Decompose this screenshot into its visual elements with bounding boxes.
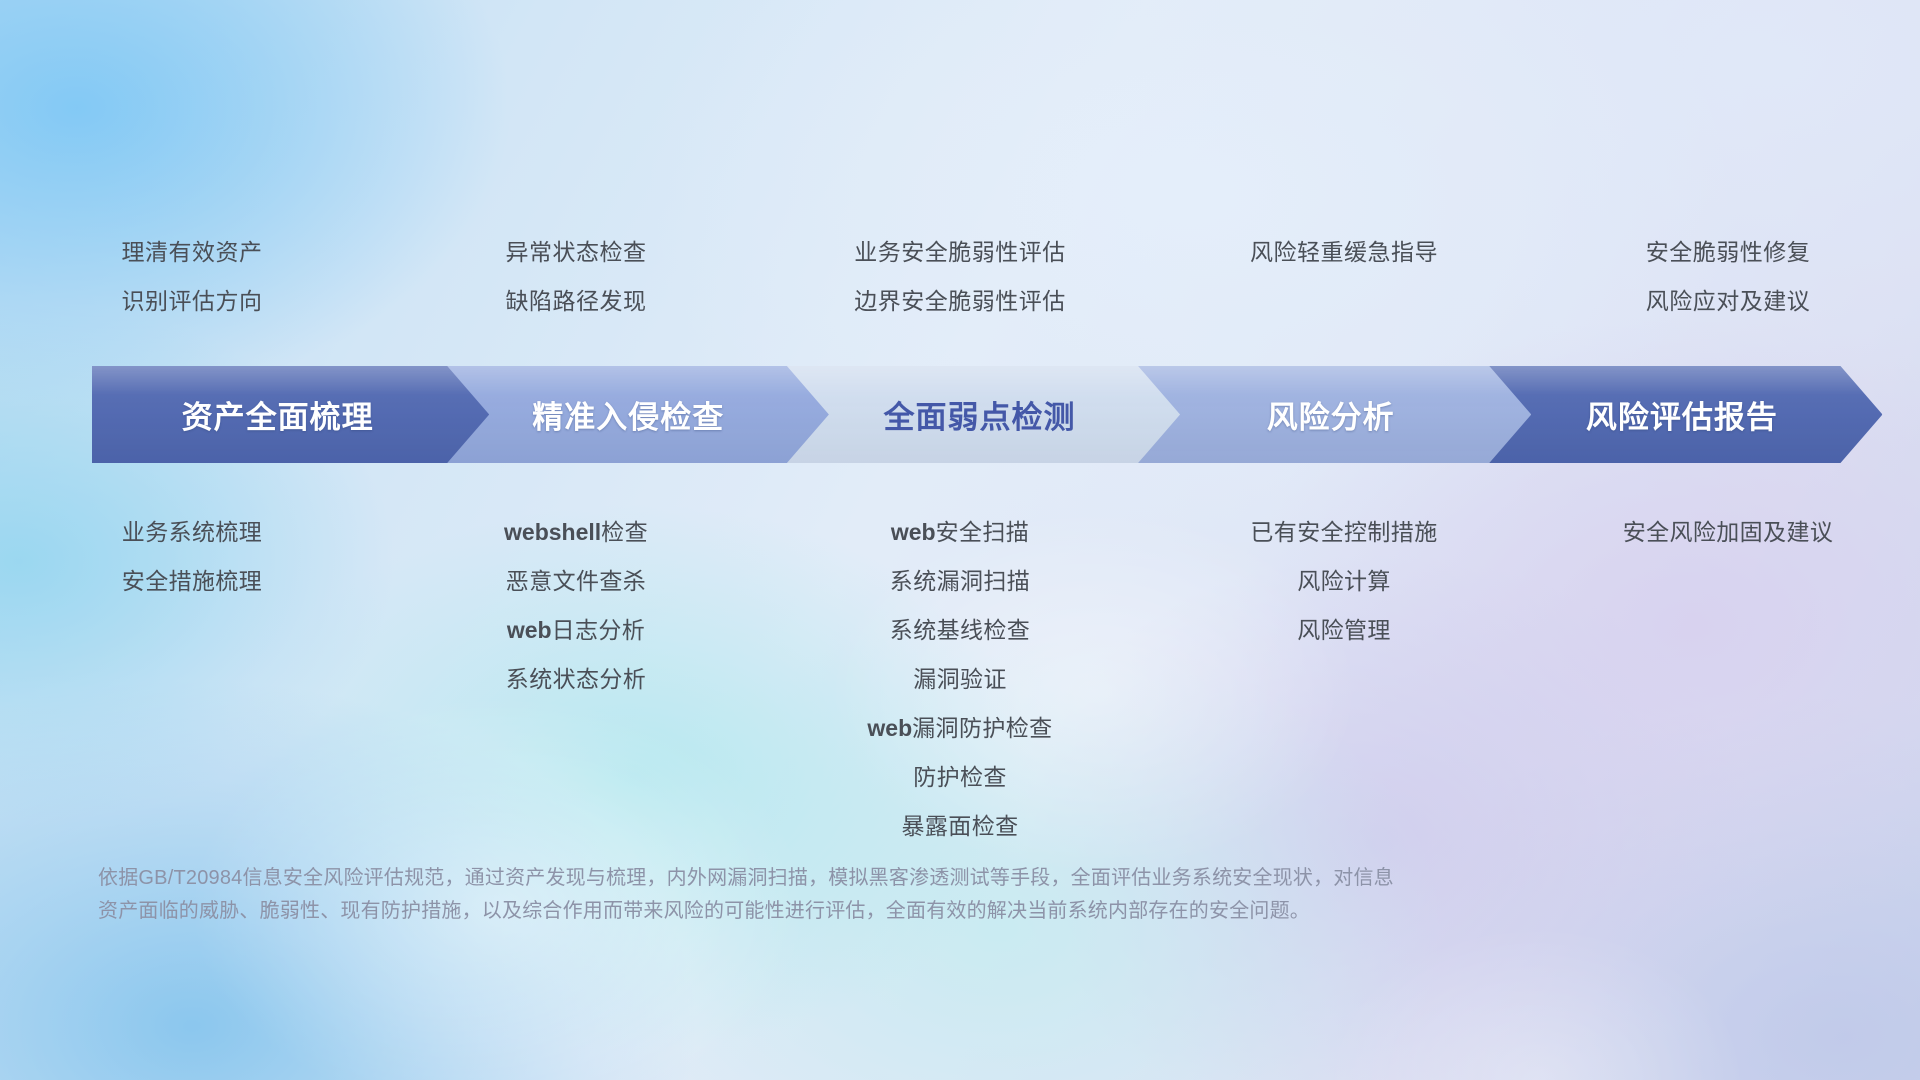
bottom-caption-item: 风险管理 bbox=[1297, 606, 1391, 655]
stage-arrow-label: 风险评估报告 bbox=[1485, 392, 1882, 437]
footer-line-1: 依据GB/T20984信息安全风险评估规范，通过资产发现与梳理，内外网漏洞扫描，… bbox=[98, 862, 1648, 895]
top-caption-item: 识别评估方向 bbox=[122, 277, 263, 326]
stage-arrow-intrusion-check[interactable]: 精准入侵检查 bbox=[432, 366, 829, 463]
bottom-caption-item: 漏洞验证 bbox=[913, 655, 1007, 704]
top-caption-col-weakness-detection: 业务安全脆弱性评估边界安全脆弱性评估 bbox=[768, 228, 1152, 326]
stage-arrow-asset-inventory[interactable]: 资产全面梳理 bbox=[92, 366, 489, 463]
bottom-caption-item: 暴露面检查 bbox=[902, 802, 1019, 851]
stage-arrow-label: 资产全面梳理 bbox=[92, 392, 489, 437]
bottom-caption-col-assessment-report: 安全风险加固及建议 bbox=[1536, 508, 1920, 557]
bottom-caption-item: 防护检查 bbox=[913, 753, 1007, 802]
bottom-caption-item: 风险计算 bbox=[1297, 557, 1391, 606]
bottom-caption-item: 恶意文件查杀 bbox=[506, 557, 646, 606]
bottom-caption-item: 业务系统梳理 bbox=[122, 508, 262, 557]
stage-arrow-risk-analysis[interactable]: 风险分析 bbox=[1134, 366, 1531, 463]
bottom-caption-item: web安全扫描 bbox=[891, 508, 1029, 557]
bottom-caption-item: web日志分析 bbox=[507, 606, 645, 655]
bottom-caption-text: 安全扫描 bbox=[936, 519, 1030, 545]
top-caption-item: 理清有效资产 bbox=[122, 228, 263, 277]
bottom-caption-item: 系统状态分析 bbox=[506, 655, 646, 704]
top-captions-row: 理清有效资产识别评估方向异常状态检查缺陷路径发现业务安全脆弱性评估边界安全脆弱性… bbox=[0, 228, 1920, 326]
bottom-caption-prefix: webshell bbox=[504, 519, 601, 545]
stage-arrow-weakness-detection[interactable]: 全面弱点检测 bbox=[783, 366, 1180, 463]
top-caption-item: 业务安全脆弱性评估 bbox=[854, 228, 1066, 277]
bottom-caption-col-risk-analysis: 已有安全控制措施风险计算风险管理 bbox=[1152, 508, 1536, 655]
top-caption-item: 安全脆弱性修复 bbox=[1646, 228, 1811, 277]
top-caption-item: 风险应对及建议 bbox=[1646, 277, 1811, 326]
top-caption-item: 缺陷路径发现 bbox=[506, 277, 647, 326]
bottom-caption-item: web漏洞防护检查 bbox=[867, 704, 1052, 753]
top-caption-item: 边界安全脆弱性评估 bbox=[854, 277, 1066, 326]
bottom-caption-text: 日志分析 bbox=[552, 617, 646, 643]
bottom-caption-text: 漏洞防护检查 bbox=[912, 715, 1052, 741]
stage-arrow-label: 全面弱点检测 bbox=[783, 392, 1180, 437]
bottom-caption-prefix: web bbox=[891, 519, 936, 545]
bottom-caption-item: 系统漏洞扫描 bbox=[890, 557, 1030, 606]
top-caption-item: 风险轻重缓急指导 bbox=[1250, 228, 1438, 277]
bottom-caption-col-asset-inventory: 业务系统梳理安全措施梳理 bbox=[0, 508, 384, 606]
bottom-caption-item: webshell检查 bbox=[504, 508, 648, 557]
footer-line-2: 资产面临的威胁、脆弱性、现有防护措施，以及综合作用而带来风险的可能性进行评估，全… bbox=[98, 895, 1648, 928]
bottom-caption-item: 已有安全控制措施 bbox=[1250, 508, 1437, 557]
bottom-caption-item: 安全措施梳理 bbox=[122, 557, 262, 606]
top-caption-item: 异常状态检查 bbox=[506, 228, 647, 277]
stage-arrow-assessment-report[interactable]: 风险评估报告 bbox=[1485, 366, 1882, 463]
footer-description: 依据GB/T20984信息安全风险评估规范，通过资产发现与梳理，内外网漏洞扫描，… bbox=[98, 862, 1648, 928]
top-caption-col-intrusion-check: 异常状态检查缺陷路径发现 bbox=[384, 228, 768, 326]
bottom-caption-prefix: web bbox=[507, 617, 552, 643]
bottom-caption-col-intrusion-check: webshell检查恶意文件查杀web日志分析系统状态分析 bbox=[384, 508, 768, 704]
top-caption-col-assessment-report: 安全脆弱性修复风险应对及建议 bbox=[1536, 228, 1920, 326]
bottom-captions-row: 业务系统梳理安全措施梳理webshell检查恶意文件查杀web日志分析系统状态分… bbox=[0, 508, 1920, 851]
bottom-caption-item: 系统基线检查 bbox=[890, 606, 1030, 655]
bottom-caption-item: 安全风险加固及建议 bbox=[1623, 508, 1834, 557]
top-caption-col-asset-inventory: 理清有效资产识别评估方向 bbox=[0, 228, 384, 326]
stage-arrow-label: 精准入侵检查 bbox=[432, 392, 829, 437]
bottom-caption-col-weakness-detection: web安全扫描系统漏洞扫描系统基线检查漏洞验证web漏洞防护检查防护检查暴露面检… bbox=[768, 508, 1152, 851]
bottom-caption-prefix: web bbox=[867, 715, 912, 741]
stage-arrow-band: 资产全面梳理精准入侵检查全面弱点检测风险分析风险评估报告 bbox=[92, 366, 1848, 463]
bottom-caption-text: 检查 bbox=[601, 519, 648, 545]
process-diagram: 理清有效资产识别评估方向异常状态检查缺陷路径发现业务安全脆弱性评估边界安全脆弱性… bbox=[0, 0, 1920, 1080]
top-caption-col-risk-analysis: 风险轻重缓急指导 bbox=[1152, 228, 1536, 326]
stage-arrow-label: 风险分析 bbox=[1134, 392, 1531, 437]
